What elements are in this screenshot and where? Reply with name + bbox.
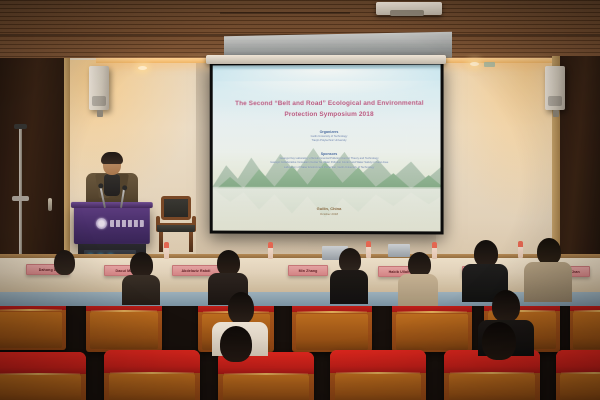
- sponsor-item: Laboratory of Water Environment Protecti…: [219, 166, 441, 171]
- attendee-body: [330, 270, 368, 304]
- seat-cushion: [556, 350, 600, 373]
- side-door-left[interactable]: [0, 58, 68, 264]
- attendee-seated: [46, 250, 82, 300]
- chair-seat: [157, 223, 195, 232]
- seat-back-panel: [573, 312, 600, 349]
- seat-cushion: [330, 350, 426, 373]
- wall-speaker-left: [89, 66, 109, 110]
- seat-back-panel: [0, 375, 81, 400]
- podium-nameplate: [110, 220, 144, 227]
- speaker-shirt: [104, 174, 120, 196]
- slide-date: October 2018: [219, 212, 441, 218]
- slide-title-line2: Protection Symposium 2018: [219, 109, 441, 120]
- auditorium-seat[interactable]: [104, 350, 200, 400]
- audience-member: [466, 322, 532, 400]
- side-chair[interactable]: [155, 196, 197, 252]
- seat-back-panel: [0, 312, 62, 348]
- attendee-head: [474, 240, 498, 267]
- audience-head: [220, 326, 252, 362]
- seat-trim: [0, 309, 62, 311]
- conference-hall-photo: The Second “Belt and Road” Ecological an…: [0, 0, 600, 400]
- attendee-seated: [398, 252, 438, 304]
- seat-back-panel: [296, 314, 368, 350]
- speaker-bracket-right: [553, 110, 559, 117]
- audience-head: [492, 290, 520, 322]
- mic-stand-knob: [12, 196, 29, 201]
- name-placard: Min Zhang: [288, 265, 328, 276]
- mic-stand-clamp: [14, 124, 27, 129]
- side-door-right[interactable]: [560, 56, 600, 268]
- slide-footer: Guilin, China October 2018: [219, 206, 441, 218]
- attendee-seated: [122, 252, 160, 302]
- university-crest-icon: [96, 218, 107, 229]
- auditorium-seat[interactable]: [0, 352, 86, 400]
- audience-head: [228, 292, 254, 324]
- seat-cushion: [0, 352, 86, 374]
- attendee-body: [398, 274, 438, 306]
- door-frame-left: [64, 58, 70, 264]
- ceiling-seam: [220, 12, 350, 14]
- water-bottle: [268, 242, 273, 259]
- slide-title: The Second “Belt and Road” Ecological an…: [219, 98, 441, 120]
- water-bottle: [518, 241, 523, 258]
- chair-leg: [159, 232, 163, 252]
- organizer-item: Tianjin Polytechnic University: [219, 139, 441, 143]
- speaker-hair: [101, 152, 123, 164]
- seat-back-panel: [335, 374, 421, 400]
- seat-cushion: [104, 350, 200, 373]
- seat-back-panel: [109, 374, 195, 400]
- audience-member: [204, 326, 268, 400]
- slide-sponsors-block: Sponsors Guangxi Key Laboratory of Envir…: [219, 151, 441, 170]
- wall-speaker-right: [545, 66, 565, 110]
- head-table-front: [0, 258, 600, 294]
- attendee-head: [537, 238, 561, 265]
- lectern-podium: [74, 206, 150, 244]
- seat-trim: [397, 311, 467, 313]
- seat-back-panel: [396, 314, 468, 350]
- seat-back-panel: [90, 312, 158, 349]
- water-bottle: [164, 242, 169, 259]
- door-handle-left[interactable]: [48, 198, 52, 211]
- audience-head: [482, 322, 516, 360]
- attendee-body: [122, 275, 160, 305]
- chair-back: [161, 196, 191, 220]
- projection-screen-frame: The Second “Belt and Road” Ecological an…: [210, 62, 444, 235]
- attendee-body: [46, 272, 82, 302]
- downlight: [470, 62, 479, 66]
- auditorium-seat[interactable]: [556, 350, 600, 400]
- seat-back-panel: [560, 374, 600, 400]
- speaker-bracket-left: [97, 110, 103, 117]
- cove-light-left: [96, 58, 216, 63]
- downlight: [138, 66, 147, 70]
- slide-title-line1: The Second “Belt and Road” Ecological an…: [219, 98, 441, 109]
- projection-screen-housing: [206, 55, 446, 64]
- chair-leg: [189, 232, 193, 252]
- projection-screen: The Second “Belt and Road” Ecological an…: [213, 65, 441, 232]
- slide-organizers-block: Organizers Guilin University of Technolo…: [219, 129, 441, 144]
- attendee-seated: [330, 248, 368, 302]
- placard-name: Abdelaziz Rabdi: [181, 269, 210, 273]
- ceiling-projector: [376, 2, 442, 15]
- placard-name: Min Zhang: [299, 269, 318, 273]
- podium-surface: [71, 202, 153, 208]
- seat-trim: [297, 311, 367, 313]
- exit-sign: [484, 62, 495, 67]
- auditorium-seat[interactable]: [330, 350, 426, 400]
